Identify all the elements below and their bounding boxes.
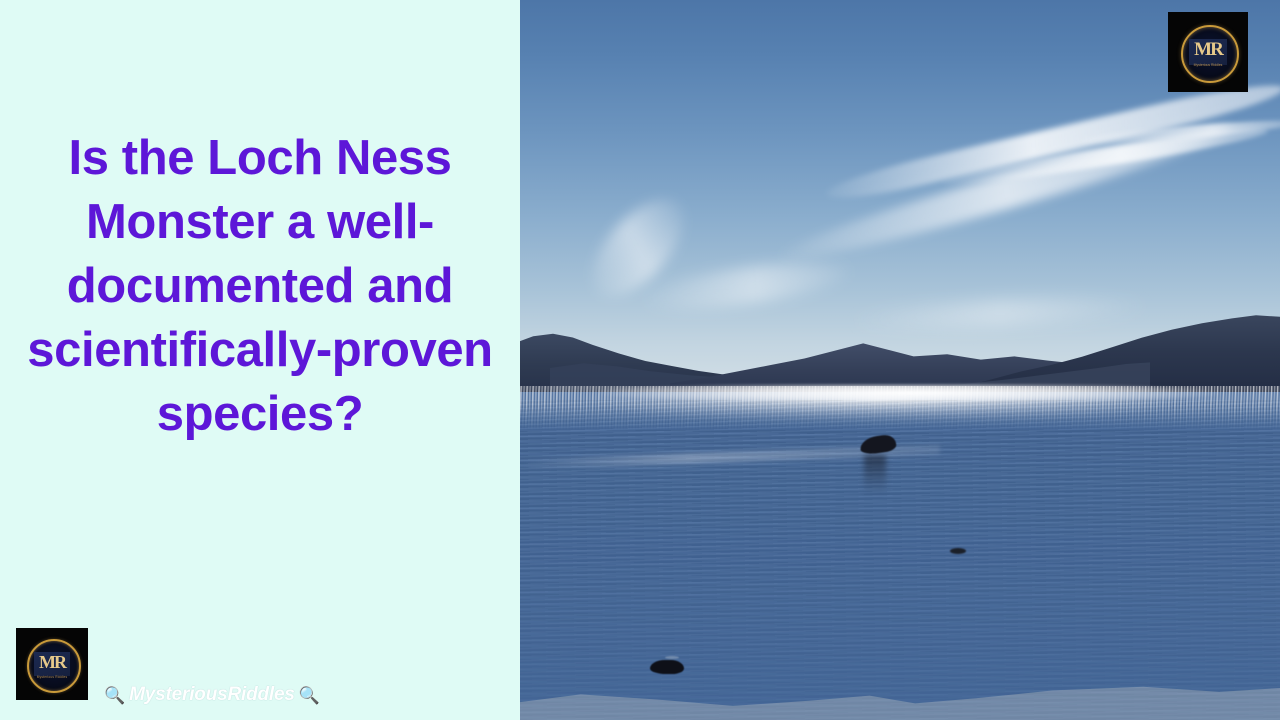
channel-handle: 🔍 MysteriousRiddles 🔍	[104, 682, 320, 708]
logo-monogram: MR	[1189, 36, 1227, 64]
magnifier-icon-left: 🔍	[104, 687, 125, 704]
foreground-object-highlight	[665, 656, 679, 659]
channel-logo: MR Mysterious Riddles	[16, 628, 88, 700]
question-panel: Is the Loch Ness Monster a well-document…	[0, 0, 520, 720]
creature-reflection	[864, 455, 886, 495]
logo-subtitle: Mysterious Riddles	[1181, 63, 1235, 67]
magnifier-icon-right: 🔍	[299, 687, 320, 704]
watermark-logo: MR Mysterious Riddles	[1168, 12, 1248, 92]
channel-name-label: MysteriousRiddles	[129, 684, 295, 706]
logo-monogram: MR	[34, 649, 70, 675]
page-title: Is the Loch Ness Monster a well-document…	[14, 126, 506, 446]
video-thumbnail-slide: Is the Loch Ness Monster a well-document…	[0, 0, 1280, 720]
water-debris	[950, 548, 966, 554]
water-ripples-secondary	[520, 430, 1280, 720]
logo-subtitle: Mysterious Riddles	[27, 675, 77, 679]
foreground-dark-object	[650, 660, 684, 674]
loch-ness-photo: MR Mysterious Riddles	[520, 0, 1280, 720]
